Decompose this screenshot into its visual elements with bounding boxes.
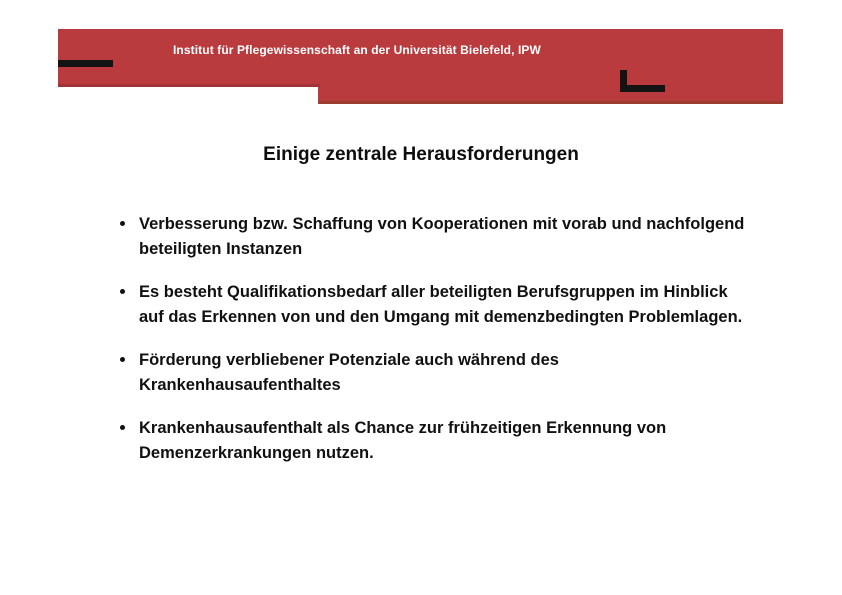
left-bar-accent-icon	[58, 60, 113, 67]
list-item: Verbesserung bzw. Schaffung von Kooperat…	[114, 212, 754, 262]
presentation-slide: Institut für Pflegewissenschaft an der U…	[0, 0, 842, 595]
banner-left-rule	[58, 84, 320, 87]
page-title: Einige zentrale Herausforderungen	[0, 143, 842, 167]
list-item-label: Förderung verbliebener Potenziale auch w…	[139, 348, 754, 398]
bullet-list: Verbesserung bzw. Schaffung von Kooperat…	[114, 212, 754, 466]
bullet-dot-icon	[120, 357, 125, 362]
header-banner: Institut für Pflegewissenschaft an der U…	[58, 29, 783, 104]
right-corner-accent-foot-icon	[620, 85, 665, 92]
bullet-dot-icon	[120, 289, 125, 294]
list-item-label: Verbesserung bzw. Schaffung von Kooperat…	[139, 212, 754, 262]
bullet-dot-icon	[120, 425, 125, 430]
banner-bottom-rule	[318, 101, 783, 104]
list-item-label: Es besteht Qualifikationsbedarf aller be…	[139, 280, 754, 330]
list-item-label: Krankenhausaufenthalt als Chance zur frü…	[139, 416, 754, 466]
bullet-dot-icon	[120, 221, 125, 226]
list-item: Förderung verbliebener Potenziale auch w…	[114, 348, 754, 398]
list-item: Es besteht Qualifikationsbedarf aller be…	[114, 280, 754, 330]
list-item: Krankenhausaufenthalt als Chance zur frü…	[114, 416, 754, 466]
banner-top-block	[58, 29, 783, 87]
institute-header-title: Institut für Pflegewissenschaft an der U…	[173, 43, 733, 57]
